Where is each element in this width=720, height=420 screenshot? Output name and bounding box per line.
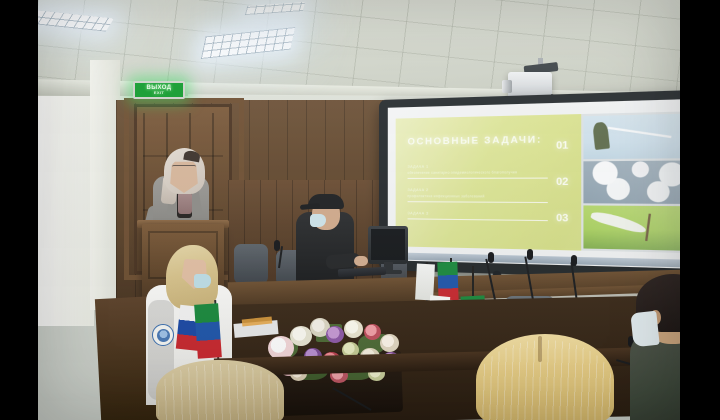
exit-sign-sublabel: EXIT xyxy=(154,91,165,95)
slide-number: 01 xyxy=(556,140,568,152)
conference-chair xyxy=(234,244,268,284)
hair-strands xyxy=(478,340,612,420)
dagestan-flag xyxy=(194,303,222,359)
conference-hall-photograph: ВЫХОД EXIT ОСНОВНЫЕ ЗАДАЧИ: ЗАДАЧА 1 xyxy=(38,0,680,420)
presentation-slide: ОСНОВНЫЕ ЗАДАЧИ: ЗАДАЧА 1 обеспечение са… xyxy=(396,111,680,253)
face-mask-icon xyxy=(194,274,211,288)
computer-monitor-icon xyxy=(368,226,408,264)
slide-number: 03 xyxy=(556,213,568,225)
speaker-scarf xyxy=(178,192,192,214)
letterbox-bar-right xyxy=(680,0,720,420)
face-mask-icon xyxy=(310,214,326,227)
slide-thumbnail-watering-sapling xyxy=(583,206,680,251)
bullet-divider xyxy=(408,178,548,179)
screenshot-root: ВЫХОД EXIT ОСНОВНЫЕ ЗАДАЧИ: ЗАДАЧА 1 xyxy=(0,0,720,420)
face-mask-icon xyxy=(630,311,659,348)
left-wall xyxy=(38,96,94,326)
hair-strands xyxy=(158,364,282,420)
whiteboard-surface: ОСНОВНЫЕ ЗАДАЧИ: ЗАДАЧА 1 обеспечение са… xyxy=(388,99,680,269)
slide-thumbnail-worker-spraying xyxy=(583,113,680,158)
bullet-divider xyxy=(408,201,548,203)
coat-emblem-badge xyxy=(152,324,174,346)
microphone-head xyxy=(488,252,494,263)
letterbox-bar-left xyxy=(0,0,38,420)
glasses-icon xyxy=(172,165,196,172)
bullet-divider xyxy=(408,218,548,221)
slide-thumbnail-cracked-stone xyxy=(583,160,680,204)
projector-lens xyxy=(502,80,512,93)
microphone-head xyxy=(527,249,533,260)
microphone-head xyxy=(571,255,577,266)
exit-sign: ВЫХОД EXIT xyxy=(133,81,185,99)
slide-content-panel: ОСНОВНЫЕ ЗАДАЧИ: ЗАДАЧА 1 обеспечение са… xyxy=(396,114,582,251)
man-in-cap-hand xyxy=(354,256,368,266)
slide-number: 02 xyxy=(556,176,568,188)
hair-parting xyxy=(538,336,542,362)
microphone-head xyxy=(274,240,280,251)
slide-number-column: 01 02 03 xyxy=(546,114,579,250)
slide-thumbnail-column xyxy=(581,111,680,253)
